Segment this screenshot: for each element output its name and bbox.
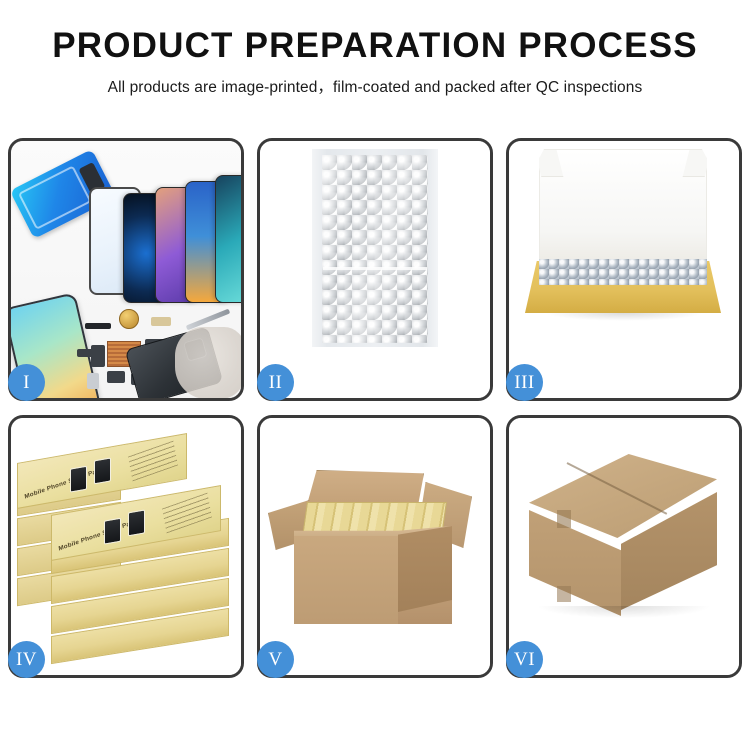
carton-tape-patch bbox=[557, 510, 571, 528]
page-subtitle: All products are image-printed，film-coat… bbox=[0, 75, 750, 97]
step-badge-1: I bbox=[8, 364, 45, 401]
process-step-5: V bbox=[257, 415, 493, 678]
box-lid bbox=[539, 149, 707, 267]
box-artwork-phone-icon bbox=[94, 457, 111, 484]
small-part-icon bbox=[77, 349, 93, 357]
flex-cable-icon bbox=[91, 345, 105, 367]
products-image bbox=[11, 141, 241, 398]
carton-shadow bbox=[539, 606, 709, 618]
box-shadow bbox=[545, 313, 703, 321]
phone-screen-icon bbox=[215, 175, 241, 303]
carton-side-face bbox=[398, 526, 452, 612]
box-stack: Mobile Phone Spare Parts Mobile Phone Sp… bbox=[17, 436, 235, 648]
carton-front-face bbox=[294, 536, 398, 624]
box-label-text: Mobile Phone Spare Parts bbox=[58, 518, 139, 553]
box-artwork-phone-icon bbox=[128, 509, 145, 536]
hand-icon bbox=[175, 327, 241, 398]
carton-tape-patch bbox=[557, 586, 571, 602]
small-part-icon bbox=[87, 373, 99, 389]
sealed-carton-image bbox=[509, 418, 739, 675]
bubble-wrapped-contents bbox=[539, 259, 707, 285]
process-step-6: VI bbox=[506, 415, 742, 678]
process-step-1: I bbox=[8, 138, 244, 401]
bubble-wrap-image bbox=[260, 141, 490, 398]
step-badge-6: VI bbox=[506, 641, 543, 678]
process-step-grid: I II III bbox=[8, 138, 742, 678]
step-badge-3: III bbox=[506, 364, 543, 401]
box-artwork-phone-icon bbox=[70, 466, 87, 493]
printed-boxes-image: Mobile Phone Spare Parts Mobile Phone Sp… bbox=[11, 418, 241, 675]
phone-fan-group bbox=[123, 175, 241, 303]
inner-box-image bbox=[509, 141, 739, 398]
plastic-glint bbox=[322, 155, 428, 343]
page-title: PRODUCT PREPARATION PROCESS bbox=[0, 26, 750, 66]
box-label-text: Mobile Phone Spare Parts bbox=[24, 466, 105, 501]
process-step-2: II bbox=[257, 138, 493, 401]
process-step-3: III bbox=[506, 138, 742, 401]
step-badge-4: IV bbox=[8, 641, 45, 678]
speaker-part-icon bbox=[107, 371, 125, 383]
step-badge-5: V bbox=[257, 641, 294, 678]
camera-module-icon bbox=[119, 309, 139, 329]
step-badge-2: II bbox=[257, 364, 294, 401]
carton-filling-image bbox=[260, 418, 490, 675]
wrap-seam bbox=[323, 267, 427, 270]
box-spec-lines bbox=[128, 441, 178, 482]
box-spec-lines bbox=[162, 493, 212, 534]
connector-part-icon bbox=[151, 317, 171, 326]
process-step-4: Mobile Phone Spare Parts Mobile Phone Sp… bbox=[8, 415, 244, 678]
box-artwork-phone-icon bbox=[104, 518, 121, 545]
header: PRODUCT PREPARATION PROCESS All products… bbox=[0, 0, 750, 97]
flex-cable-icon bbox=[85, 323, 111, 329]
